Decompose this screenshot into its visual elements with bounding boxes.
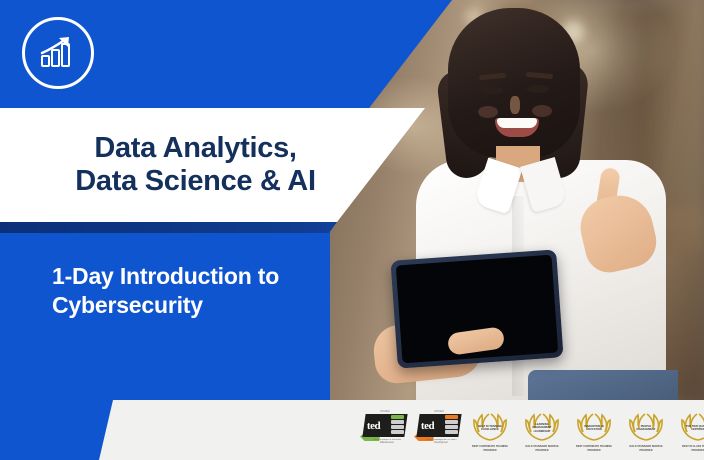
award-core-text: LEARNING MANAGEMENT LEADERSHIP: [530, 423, 554, 433]
title-line-1: Data Analytics,: [0, 132, 391, 165]
course-subtitle: 1-Day Introduction to Cybersecurity: [52, 262, 362, 320]
ted-chip: [391, 415, 404, 436]
brand-logo: [22, 17, 94, 89]
award-core-text: PEOPLE MANAGEMENT: [634, 425, 658, 432]
page-title: Data Analytics, Data Science & AI: [0, 132, 425, 198]
ted-badge-orange: WINNER ted Change Management & Talent De…: [414, 410, 460, 450]
award-caption: BEST CORPORATE TRAINING PROVIDER: [468, 445, 512, 452]
award-caption: GOLD STANDARD SERVICE PROVIDER: [520, 445, 564, 452]
ted-card: ted: [416, 414, 461, 437]
award-caption: GOLD STANDARD SERVICE PROVIDER: [624, 445, 668, 452]
award-caption: BEST IN CLASS TRAINING PROVIDER: [676, 445, 704, 452]
award-badge-5: TOP TIER QUALITY CERTIFIED BEST IN CLASS…: [676, 408, 704, 452]
ted-top-text: WINNER: [420, 410, 458, 413]
award-core-text: BEST IN TRAINING EXCELLENCE: [478, 425, 502, 432]
course-promo-banner: Data Analytics, Data Science & AI 1-Day …: [0, 0, 704, 460]
ted-caption: Change Management & Talent Development: [422, 439, 460, 449]
nose: [510, 96, 520, 114]
growth-bar-chart-arrow-icon: [39, 36, 77, 70]
cheek-left: [478, 106, 498, 118]
ted-top-text: WINNER: [366, 410, 404, 413]
award-badge-2: LEARNING MANAGEMENT LEADERSHIP GOLD STAN…: [520, 408, 564, 452]
ted-wordmark: ted: [364, 420, 380, 432]
teeth: [497, 118, 537, 128]
title-line-2: Data Science & AI: [0, 165, 391, 198]
award-badge-4: PEOPLE MANAGEMENT GOLD STANDARD SERVICE …: [624, 408, 668, 452]
award-caption: BEST CORPORATE TRAINING PROVIDER: [572, 445, 616, 452]
award-core-text: TOP TIER QUALITY CERTIFIED: [686, 425, 704, 432]
cheek-right: [532, 105, 552, 117]
award-core-text: INNOVATION IN EDUCATION: [582, 425, 606, 432]
award-badge-3: INNOVATION IN EDUCATION BEST CORPORATE T…: [572, 408, 616, 452]
award-badge-1: BEST IN TRAINING EXCELLENCE BEST CORPORA…: [468, 408, 512, 452]
ted-badge-green: WINNER ted Communication & Personal Effe…: [360, 410, 406, 450]
ted-card: ted: [362, 414, 407, 437]
ted-wordmark: ted: [418, 420, 434, 432]
ted-caption: Communication & Personal Effectiveness: [368, 439, 406, 449]
ted-chip: [445, 415, 458, 436]
eye-left: [481, 86, 503, 94]
subtitle-line-2: Cybersecurity: [52, 291, 362, 320]
subtitle-line-1: 1-Day Introduction to: [52, 262, 362, 291]
eye-right: [527, 85, 549, 93]
